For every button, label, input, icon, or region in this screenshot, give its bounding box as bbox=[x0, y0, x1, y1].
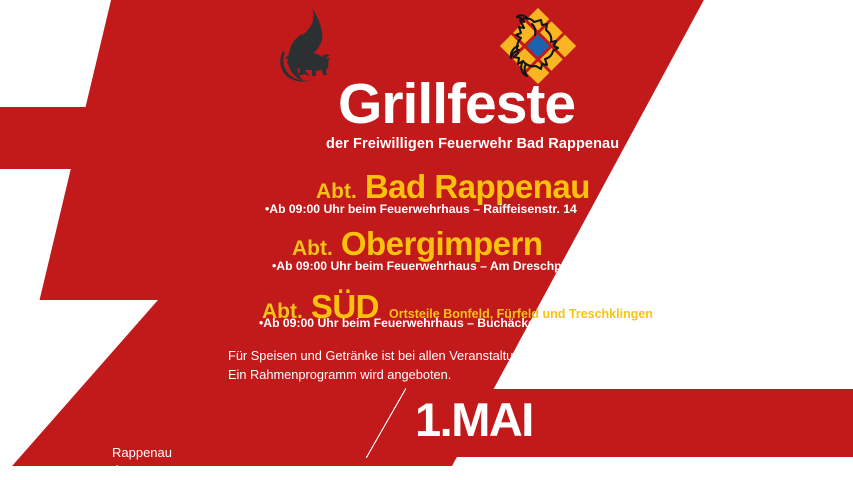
department-entry-1: Abt.Bad Rappenau bbox=[316, 168, 590, 206]
page-subtitle: der Freiwilligen Feuerwehr Bad Rappenau bbox=[326, 136, 619, 152]
info-blurb-line-2: Ein Rahmenprogramm wird angeboten. bbox=[228, 366, 634, 385]
department-address-2: •Ab 09:00 Uhr beim Feuerwehrhaus – Am Dr… bbox=[272, 259, 592, 273]
footer-contact: Rappenau de bbox=[112, 443, 172, 480]
fire-brigade-flame-lion-icon bbox=[272, 6, 338, 88]
department-name: Bad Rappenau bbox=[365, 168, 590, 205]
date-banner-edge-line bbox=[366, 388, 406, 458]
department-entry-2: Abt.Obergimpern bbox=[292, 225, 543, 263]
date-banner-label: 1.MAI bbox=[415, 396, 533, 443]
page-title: Grillfeste bbox=[338, 76, 575, 133]
footer-line-1: Rappenau bbox=[112, 443, 172, 463]
department-address-1: •Ab 09:00 Uhr beim Feuerwehrhaus – Raiff… bbox=[265, 202, 577, 216]
department-prefix: Abt. bbox=[292, 237, 333, 260]
footer-line-2: de bbox=[112, 463, 172, 480]
department-prefix: Abt. bbox=[316, 180, 357, 203]
info-blurb: Für Speisen und Getränke ist bei allen V… bbox=[228, 347, 634, 384]
department-address-3: •Ab 09:00 Uhr beim Feuerwehrhaus – Buchä… bbox=[259, 316, 580, 330]
department-name: Obergimpern bbox=[341, 225, 543, 262]
poster-canvas: Grillfeste der Freiwilligen Feuerwehr Ba… bbox=[0, 0, 853, 480]
info-blurb-line-1: Für Speisen und Getränke ist bei allen V… bbox=[228, 347, 634, 366]
